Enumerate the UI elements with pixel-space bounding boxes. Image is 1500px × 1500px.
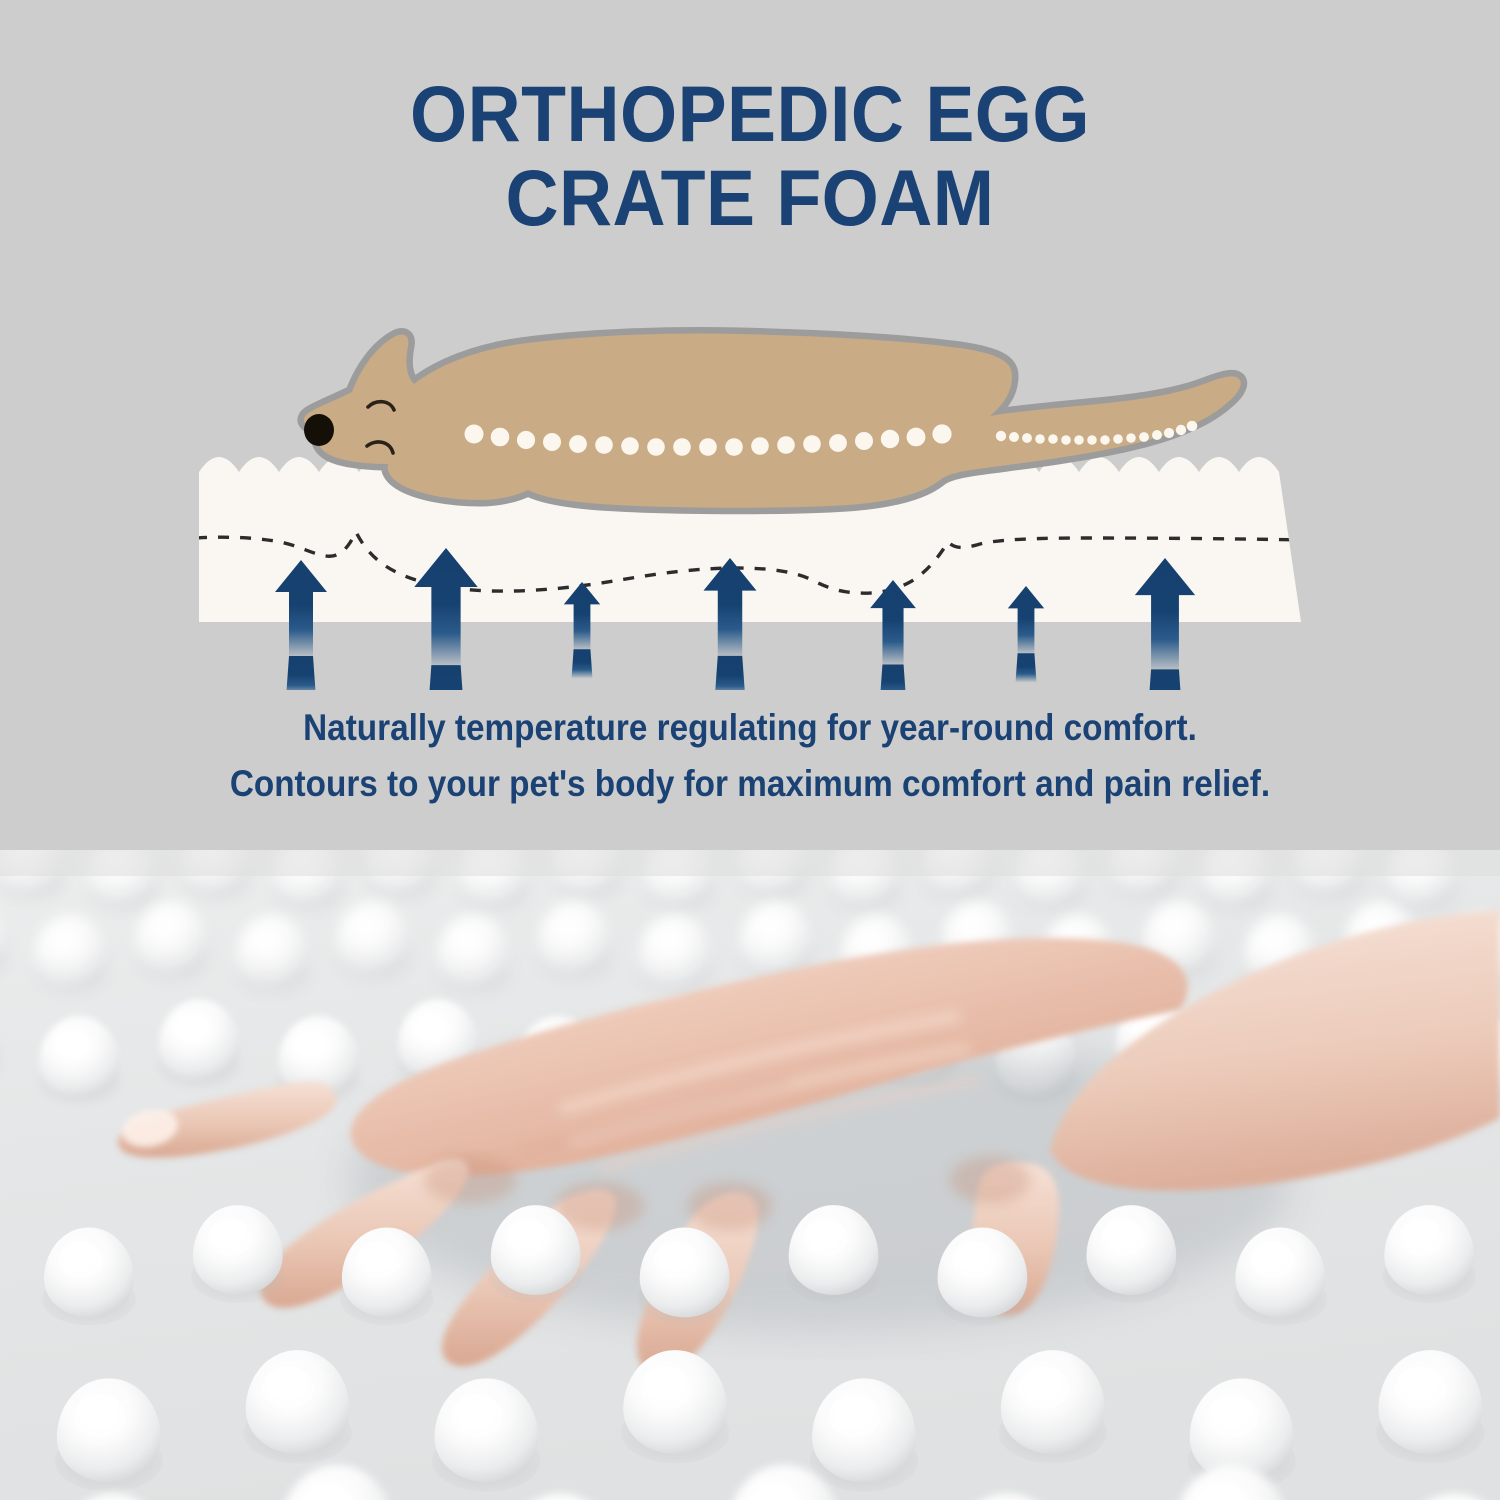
caption-block: Naturally temperature regulating for yea… <box>0 700 1500 812</box>
title-line-2: CRATE FOAM <box>53 156 1448 240</box>
page-title: ORTHOPEDIC EGG CRATE FOAM <box>0 72 1500 240</box>
caption-line-2: Contours to your pet's body for maximum … <box>75 756 1425 812</box>
hand-pressing-egg-crate-foam-photo <box>0 850 1500 1500</box>
info-panel: ORTHOPEDIC EGG CRATE FOAM <box>0 0 1500 850</box>
product-infographic-page: ORTHOPEDIC EGG CRATE FOAM <box>0 0 1500 1500</box>
caption-line-1: Naturally temperature regulating for yea… <box>75 700 1425 756</box>
diagram-illustration <box>0 300 1500 690</box>
title-line-1: ORTHOPEDIC EGG <box>53 72 1448 156</box>
dog-nose-icon <box>304 414 334 446</box>
